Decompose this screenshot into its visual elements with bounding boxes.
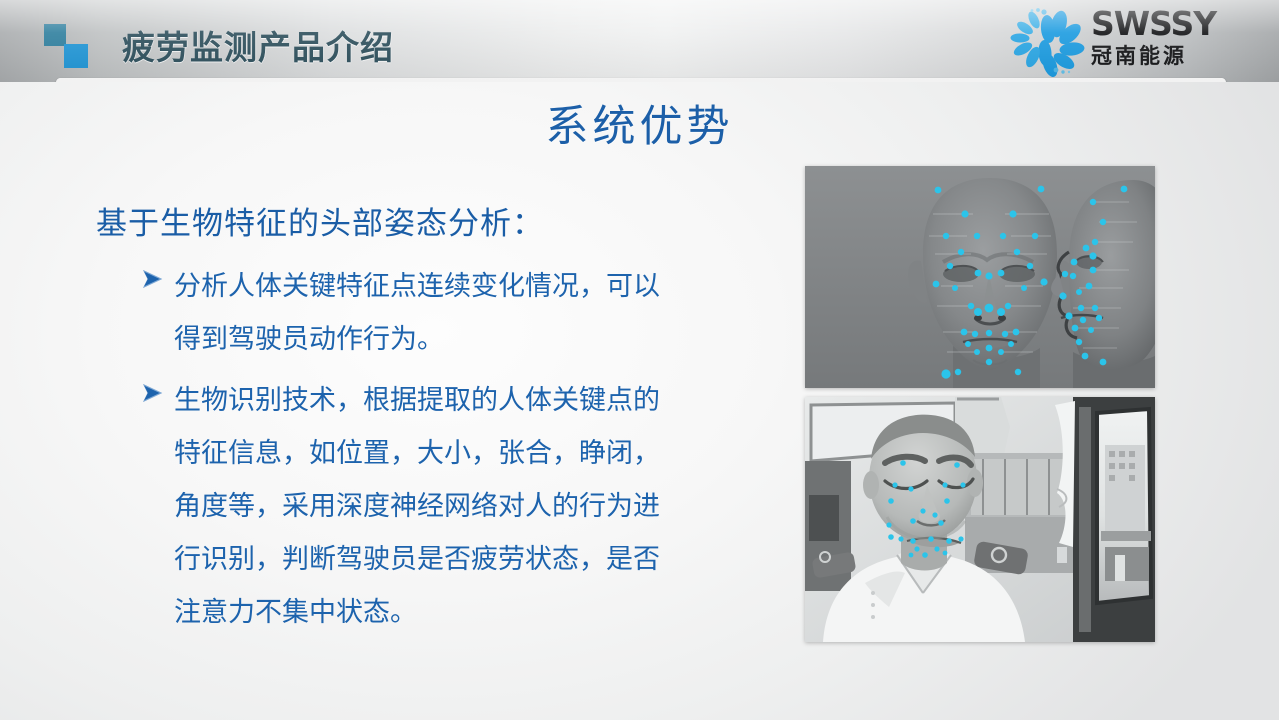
bullet-line: 角度等，采用深度神经网络对人的行为进 <box>174 480 790 533</box>
logo-brand-en: SWSSY <box>1091 6 1263 42</box>
list-item: 分析人体关键特征点连续变化情况，可以 得到驾驶员动作行为。 <box>140 260 790 366</box>
bullet-list: 分析人体关键特征点连续变化情况，可以 得到驾驶员动作行为。 生物识别技术，根据提… <box>140 260 790 647</box>
slide-header: 疲劳监测产品介绍 <box>0 0 1279 82</box>
header-title: 疲劳监测产品介绍 <box>122 21 394 69</box>
bullet-line: 得到驾驶员动作行为。 <box>174 313 790 366</box>
list-item: 生物识别技术，根据提取的人体关键点的 特征信息，如位置，大小，张合，睁闭， 角度… <box>140 374 790 639</box>
bullet-line: 分析人体关键特征点连续变化情况，可以 <box>174 260 790 313</box>
bullet-line: 特征信息，如位置，大小，张合，睁闭， <box>174 427 790 480</box>
bullet-line: 行识别，判断驾驶员是否疲劳状态，是否 <box>174 533 790 586</box>
logo-text-block: SWSSY 冠南能源 <box>1091 6 1263 69</box>
face-landmark-mesh-image <box>805 166 1155 388</box>
logo-brand-cn: 冠南能源 <box>1091 43 1263 69</box>
header-decor-squares-icon <box>44 24 90 70</box>
header-divider <box>56 78 1226 82</box>
company-logo: SWSSY 冠南能源 <box>1009 4 1265 78</box>
arrow-bullet-icon <box>140 378 166 408</box>
swssy-petal-flower-logo-icon <box>1009 7 1085 77</box>
decor-square-light <box>64 44 88 68</box>
lead-heading: 基于生物特征的头部姿态分析： <box>96 198 544 243</box>
slide-root: 疲劳监测产品介绍 <box>0 0 1279 720</box>
bullet-line: 生物识别技术，根据提取的人体关键点的 <box>174 374 790 427</box>
bullet-line: 注意力不集中状态。 <box>174 586 790 639</box>
driver-fatigue-detection-image <box>805 397 1155 642</box>
arrow-bullet-icon <box>140 264 166 294</box>
list-item-text: 分析人体关键特征点连续变化情况，可以 得到驾驶员动作行为。 <box>174 260 790 366</box>
list-item-text: 生物识别技术，根据提取的人体关键点的 特征信息，如位置，大小，张合，睁闭， 角度… <box>174 374 790 639</box>
page-title: 系统优势 <box>0 92 1279 154</box>
decor-square-dark <box>44 24 66 46</box>
